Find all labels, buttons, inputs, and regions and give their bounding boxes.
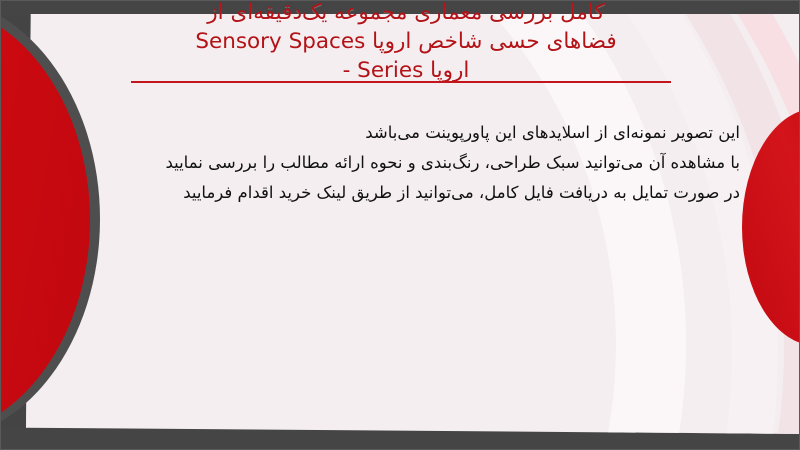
- title-line-2: فضاهای حسی شاخص اروپا Sensory Spaces: [96, 27, 716, 56]
- body-line-2: با مشاهده آن می‌توانید سبک طراحی، رنگ‌بن…: [60, 148, 740, 178]
- slide-body-text: این تصویر نمونه‌ای از اسلایدهای این پاور…: [60, 118, 740, 208]
- title-divider-rule: [131, 81, 671, 83]
- slide-title: کامل بررسی معماری مجموعه یک‌دقیقه‌ای از …: [96, 0, 716, 85]
- body-line-1: این تصویر نمونه‌ای از اسلایدهای این پاور…: [60, 118, 740, 148]
- presentation-slide: کامل بررسی معماری مجموعه یک‌دقیقه‌ای از …: [0, 0, 800, 450]
- body-line-3: در صورت تمایل به دریافت فایل کامل، می‌تو…: [60, 178, 740, 208]
- title-line-1: کامل بررسی معماری مجموعه یک‌دقیقه‌ای از: [96, 0, 716, 27]
